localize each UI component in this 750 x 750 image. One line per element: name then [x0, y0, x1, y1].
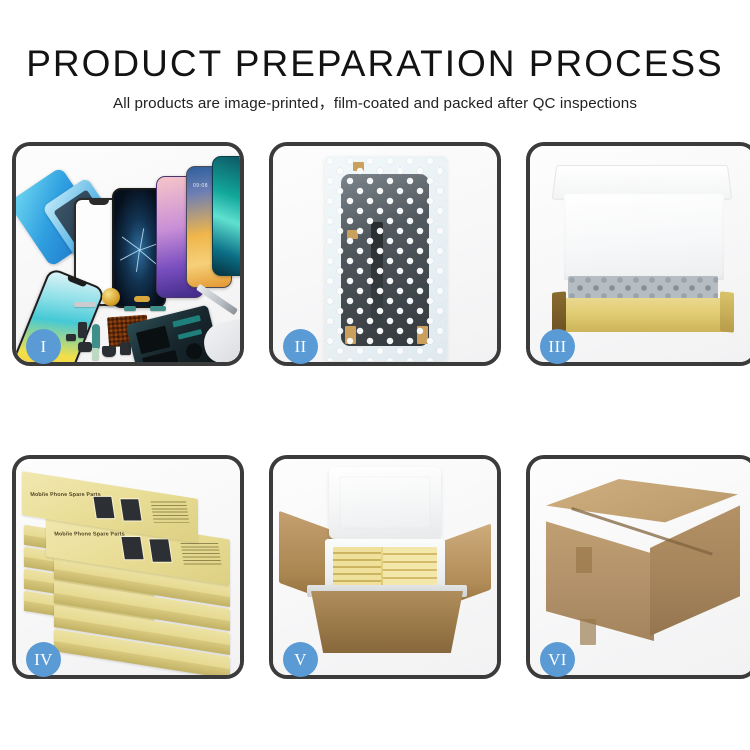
- carton-tape-icon: [576, 547, 592, 573]
- spare-part-icon: [134, 296, 150, 302]
- kraft-box-row: [333, 547, 381, 587]
- step-badge-5: V: [283, 642, 318, 677]
- carton-body-icon: [311, 591, 463, 653]
- spare-part-icon: [92, 348, 99, 360]
- phone-status-text: 09:08: [193, 183, 208, 189]
- spare-part-icon: [120, 342, 131, 355]
- bubble-wrap-bag-icon: [325, 156, 447, 361]
- spare-part-icon: [74, 302, 96, 307]
- bubble-texture-highlight: [325, 156, 447, 361]
- step-badge-3: III: [540, 329, 575, 364]
- process-step-panel-5[interactable]: V: [269, 455, 501, 679]
- foam-sheet-icon: [564, 194, 724, 280]
- styrofoam-lid-icon: [329, 467, 441, 539]
- camera-module-icon: [184, 342, 203, 361]
- process-step-panel-6[interactable]: VI: [526, 455, 750, 679]
- flex-cable-icon: [172, 315, 201, 328]
- kraft-box-row: [383, 547, 437, 587]
- box-spec-lines: [181, 543, 222, 565]
- flex-cable-icon: [178, 329, 202, 340]
- crack-line-icon: [139, 250, 157, 265]
- crack-line-icon: [121, 237, 140, 251]
- packed-kraft-boxes-icon: [333, 547, 437, 587]
- box-window-icon: [148, 538, 172, 562]
- process-steps-grid: 09:08: [12, 142, 738, 678]
- process-step-panel-2[interactable]: II: [269, 142, 501, 366]
- box-label-text: Mobile Phone Spare Parts: [30, 492, 101, 498]
- teal-phone-icon: [212, 156, 240, 276]
- page-title: PRODUCT PREPARATION PROCESS: [0, 42, 750, 86]
- step-badge-6: VI: [540, 642, 575, 677]
- process-step-panel-4[interactable]: Mobile Phone Spare Parts Mobile Phone Sp…: [12, 455, 244, 679]
- box-label-text: Mobile Phone Spare Parts: [54, 531, 125, 537]
- process-step-panel-3[interactable]: III: [526, 142, 750, 366]
- crack-line-icon: [136, 250, 140, 272]
- spare-part-icon: [66, 334, 76, 341]
- spare-part-icon: [78, 322, 87, 338]
- step-badge-1: I: [26, 329, 61, 364]
- box-window-icon: [120, 536, 144, 560]
- spare-part-icon: [102, 346, 116, 357]
- process-step-panel-1[interactable]: 09:08: [12, 142, 244, 366]
- step-badge-2: II: [283, 329, 318, 364]
- product-preparation-process-page: PRODUCT PREPARATION PROCESS All products…: [0, 0, 750, 750]
- spare-part-icon: [78, 342, 92, 352]
- spare-part-icon: [92, 324, 100, 350]
- carton-left-face: [546, 505, 654, 641]
- spare-part-icon: [150, 306, 166, 311]
- kraft-box-tray-icon: [554, 298, 732, 332]
- carton-tape-icon: [580, 619, 596, 645]
- step-badge-4: IV: [26, 642, 61, 677]
- camera-ring-part-icon: [102, 288, 120, 306]
- page-subtitle: All products are image-printed，film-coat…: [0, 94, 750, 114]
- box-window-icon: [92, 496, 115, 519]
- box-window-icon: [119, 498, 142, 521]
- box-spec-lines: [151, 501, 190, 522]
- page-header: PRODUCT PREPARATION PROCESS All products…: [0, 42, 750, 114]
- sealed-carton-icon: [546, 479, 738, 655]
- spare-part-icon: [124, 306, 136, 311]
- chip-icon: [136, 326, 170, 355]
